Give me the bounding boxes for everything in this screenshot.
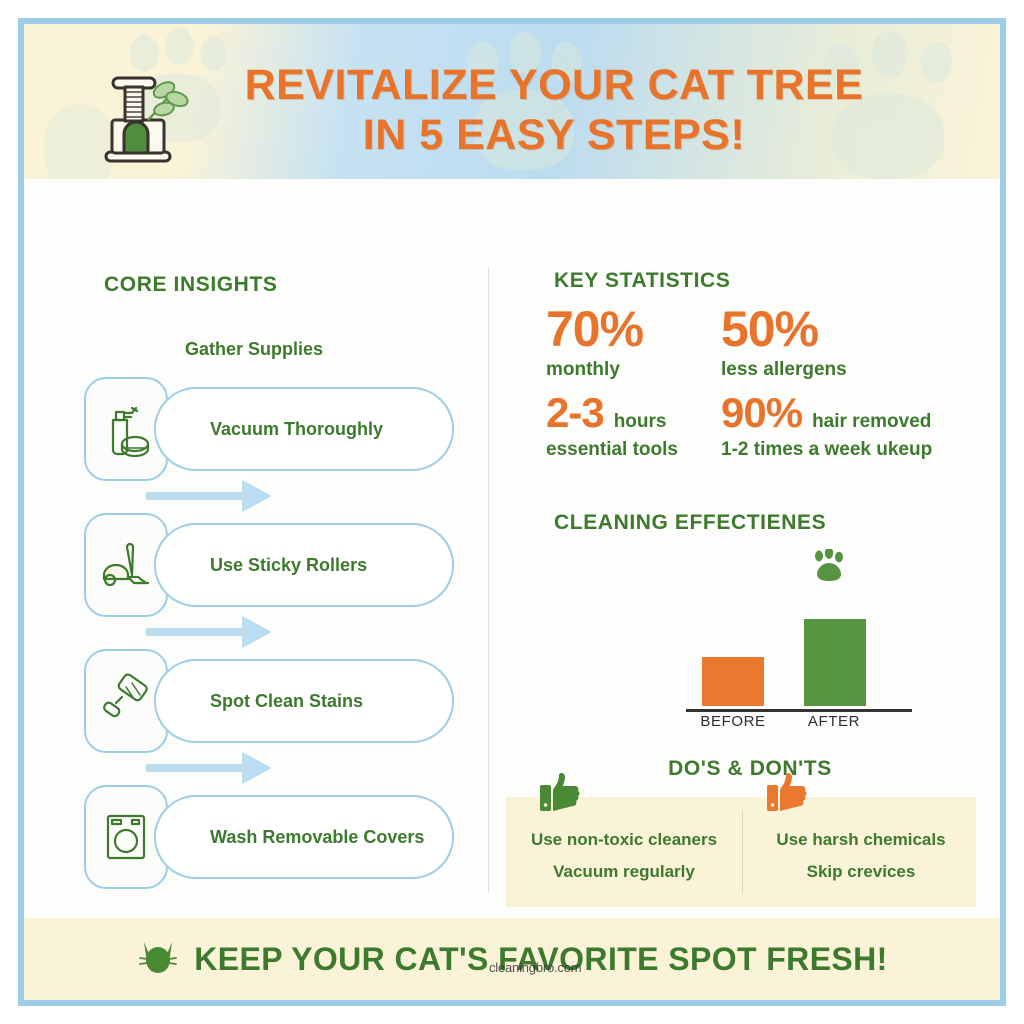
donts-line-1: Use harsh chemicals	[743, 829, 979, 851]
core-insights-heading: CORE INSIGHTS	[104, 273, 277, 297]
dos-donts-band: Use non-toxic cleaners Vacuum regularly …	[506, 797, 976, 907]
cat-head-icon	[136, 938, 180, 980]
bar-label-before: BEFORE	[678, 713, 788, 730]
footer-banner: KEEP YOUR CAT'S FAVORITE SPOT FRESH!	[24, 918, 1000, 1000]
header-banner: REVITALIZE YOUR CAT TREE IN 5 EASY STEPS…	[24, 24, 1000, 179]
flow-arrow-1	[146, 479, 276, 513]
statistics-grid: 70% monthly 50% less allergens 2-3 hours	[546, 301, 996, 463]
stat-item-1: 70% monthly	[546, 301, 721, 383]
step-label-2: Use Sticky Rollers	[156, 554, 381, 577]
paw-print-icon	[810, 549, 850, 585]
key-statistics-column: KEY STATISTICS 70% monthly 50% less alle…	[488, 179, 1006, 919]
step-label-4: Wash Removable Covers	[156, 826, 438, 849]
dos-line-2: Vacuum regularly	[506, 861, 742, 883]
content-area: CORE INSIGHTS Gather Supplies	[24, 179, 1000, 919]
stat-value-3: 2-3	[546, 389, 604, 437]
stat-item-2: 50% less allergens	[721, 301, 966, 383]
header-title: REVITALIZE YOUR CAT TREE IN 5 EASY STEPS…	[204, 60, 904, 160]
step-card-3[interactable]: Spot Clean Stains	[84, 649, 454, 753]
core-insights-column: CORE INSIGHTS Gather Supplies	[24, 179, 488, 919]
stat-unit-3: hours	[614, 409, 667, 435]
stat-item-3: 2-3 hours essential tools	[546, 389, 721, 463]
flow-arrow-3	[146, 751, 276, 785]
title-line-2: IN 5 EASY STEPS!	[204, 110, 904, 160]
cat-tree-icon	[84, 72, 196, 167]
flow-arrow-2	[146, 615, 276, 649]
stat-row-2: 2-3 hours essential tools 90% hair remov…	[546, 389, 996, 463]
step-label-box-4: Wash Removable Covers	[154, 795, 454, 879]
step-card-1[interactable]: Vacuum Thoroughly	[84, 377, 454, 481]
step-label-3: Spot Clean Stains	[156, 690, 377, 713]
key-statistics-heading: KEY STATISTICS	[554, 269, 730, 293]
stat-unit-4: hair removed	[812, 409, 931, 435]
watermark: cleaningbro.com	[489, 960, 581, 975]
step-label-box-2: Use Sticky Rollers	[154, 523, 454, 607]
bar-before	[702, 657, 764, 706]
infographic-poster: REVITALIZE YOUR CAT TREE IN 5 EASY STEPS…	[18, 18, 1006, 1006]
stat-label-3: essential tools	[546, 437, 721, 463]
donts-line-2: Skip crevices	[743, 861, 979, 883]
step-label-box-3: Spot Clean Stains	[154, 659, 454, 743]
stat-label-2: less allergens	[721, 357, 966, 383]
bars-container	[618, 591, 958, 709]
step-card-4[interactable]: Wash Removable Covers	[84, 785, 454, 889]
dos-line-1: Use non-toxic cleaners	[506, 829, 742, 851]
stat-value-4: 90%	[721, 389, 802, 437]
stat-value-1: 70%	[546, 301, 721, 357]
thumbs-up-green-icon	[540, 771, 580, 813]
stat-label-4: 1-2 times a week ukeup	[721, 437, 966, 463]
step-card-2[interactable]: Use Sticky Rollers	[84, 513, 454, 617]
stat-row-1: 70% monthly 50% less allergens	[546, 301, 996, 383]
flow-subtitle: Gather Supplies	[84, 339, 424, 360]
donts-column: Use harsh chemicals Skip crevices	[743, 797, 979, 907]
bar-after	[804, 619, 866, 706]
stat-label-1: monthly	[546, 357, 721, 383]
chart-baseline	[686, 709, 912, 712]
bar-label-after: AFTER	[779, 713, 889, 730]
title-line-1: REVITALIZE YOUR CAT TREE	[204, 60, 904, 110]
before-after-bar-chart: BEFORE AFTER	[618, 549, 958, 749]
step-label-1: Vacuum Thoroughly	[156, 418, 397, 441]
step-label-box-1: Vacuum Thoroughly	[154, 387, 454, 471]
dos-column: Use non-toxic cleaners Vacuum regularly	[506, 797, 742, 907]
stat-value-2: 50%	[721, 301, 966, 357]
thumbs-up-orange-icon	[767, 771, 807, 813]
stat-item-4: 90% hair removed 1-2 times a week ukeup	[721, 389, 966, 463]
chart-heading: CLEANING EFFECTIENES	[554, 511, 826, 535]
